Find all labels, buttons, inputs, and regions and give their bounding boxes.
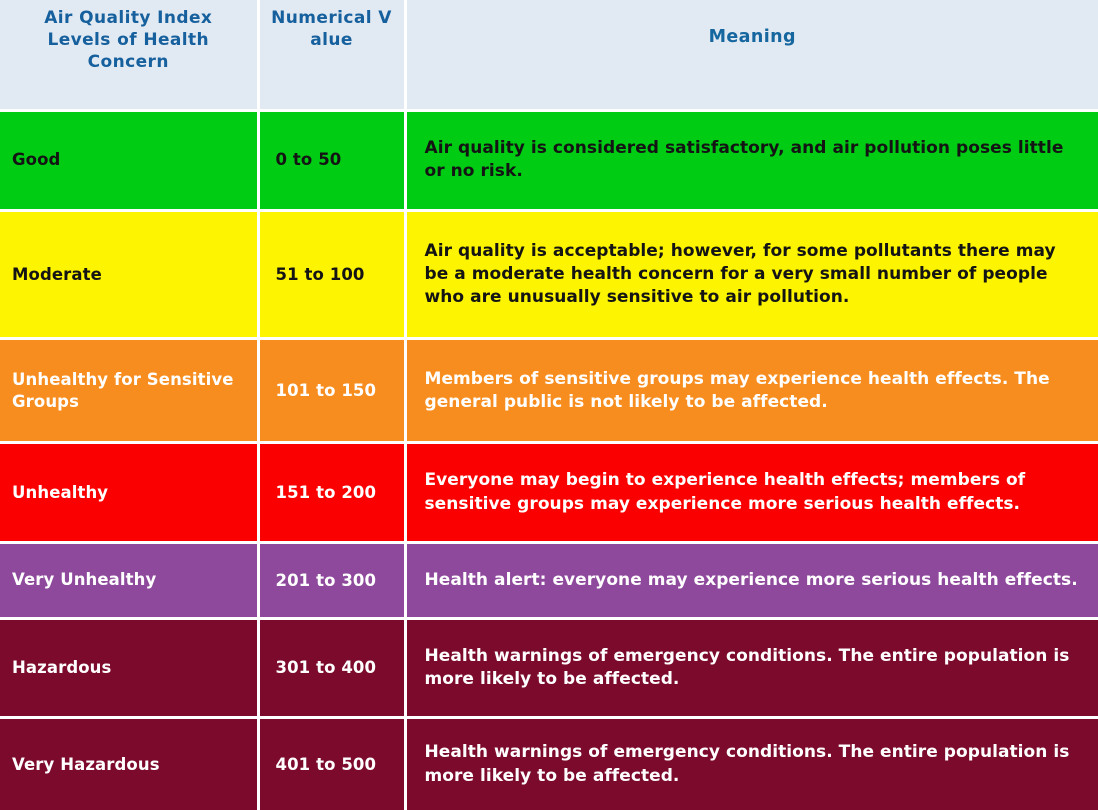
column-header-meaning: Meaning [405,0,1098,110]
table-row-unhealthy: Unhealthy 151 to 200 Everyone may begin … [0,443,1098,542]
cell-level-very-unhealthy: Very Unhealthy [0,542,258,618]
cell-meaning-hazardous: Health warnings of emergency conditions.… [405,618,1098,717]
table-header: Air Quality Index Levels of Health Conce… [0,0,1098,110]
cell-value-good: 0 to 50 [258,110,405,210]
table-row-hazardous: Hazardous 301 to 400 Health warnings of … [0,618,1098,717]
cell-meaning-good: Air quality is considered satisfactory, … [405,110,1098,210]
cell-meaning-unhealthy: Everyone may begin to experience health … [405,443,1098,542]
column-header-numerical-value: Numerical Value [258,0,405,110]
cell-meaning-unhealthy-sensitive-groups: Members of sensitive groups may experien… [405,339,1098,443]
cell-level-unhealthy: Unhealthy [0,443,258,542]
table-row-unhealthy-sensitive-groups: Unhealthy for Sensitive Groups 101 to 15… [0,339,1098,443]
cell-value-very-hazardous: 401 to 500 [258,718,405,810]
aqi-levels-table: Air Quality Index Levels of Health Conce… [0,0,1098,810]
cell-meaning-very-unhealthy: Health alert: everyone may experience mo… [405,542,1098,618]
cell-meaning-very-hazardous: Health warnings of emergency conditions.… [405,718,1098,810]
table-row-good: Good 0 to 50 Air quality is considered s… [0,110,1098,210]
cell-level-unhealthy-sensitive-groups: Unhealthy for Sensitive Groups [0,339,258,443]
table-body: Good 0 to 50 Air quality is considered s… [0,110,1098,810]
table-row-very-unhealthy: Very Unhealthy 201 to 300 Health alert: … [0,542,1098,618]
table-row-moderate: Moderate 51 to 100 Air quality is accept… [0,210,1098,338]
cell-value-hazardous: 301 to 400 [258,618,405,717]
cell-level-good: Good [0,110,258,210]
column-header-level: Air Quality Index Levels of Health Conce… [0,0,258,110]
cell-value-unhealthy: 151 to 200 [258,443,405,542]
cell-level-moderate: Moderate [0,210,258,338]
cell-value-moderate: 51 to 100 [258,210,405,338]
cell-value-unhealthy-sensitive-groups: 101 to 150 [258,339,405,443]
table-header-row: Air Quality Index Levels of Health Conce… [0,0,1098,110]
table-row-very-hazardous: Very Hazardous 401 to 500 Health warning… [0,718,1098,810]
cell-value-very-unhealthy: 201 to 300 [258,542,405,618]
cell-level-hazardous: Hazardous [0,618,258,717]
cell-meaning-moderate: Air quality is acceptable; however, for … [405,210,1098,338]
cell-level-very-hazardous: Very Hazardous [0,718,258,810]
